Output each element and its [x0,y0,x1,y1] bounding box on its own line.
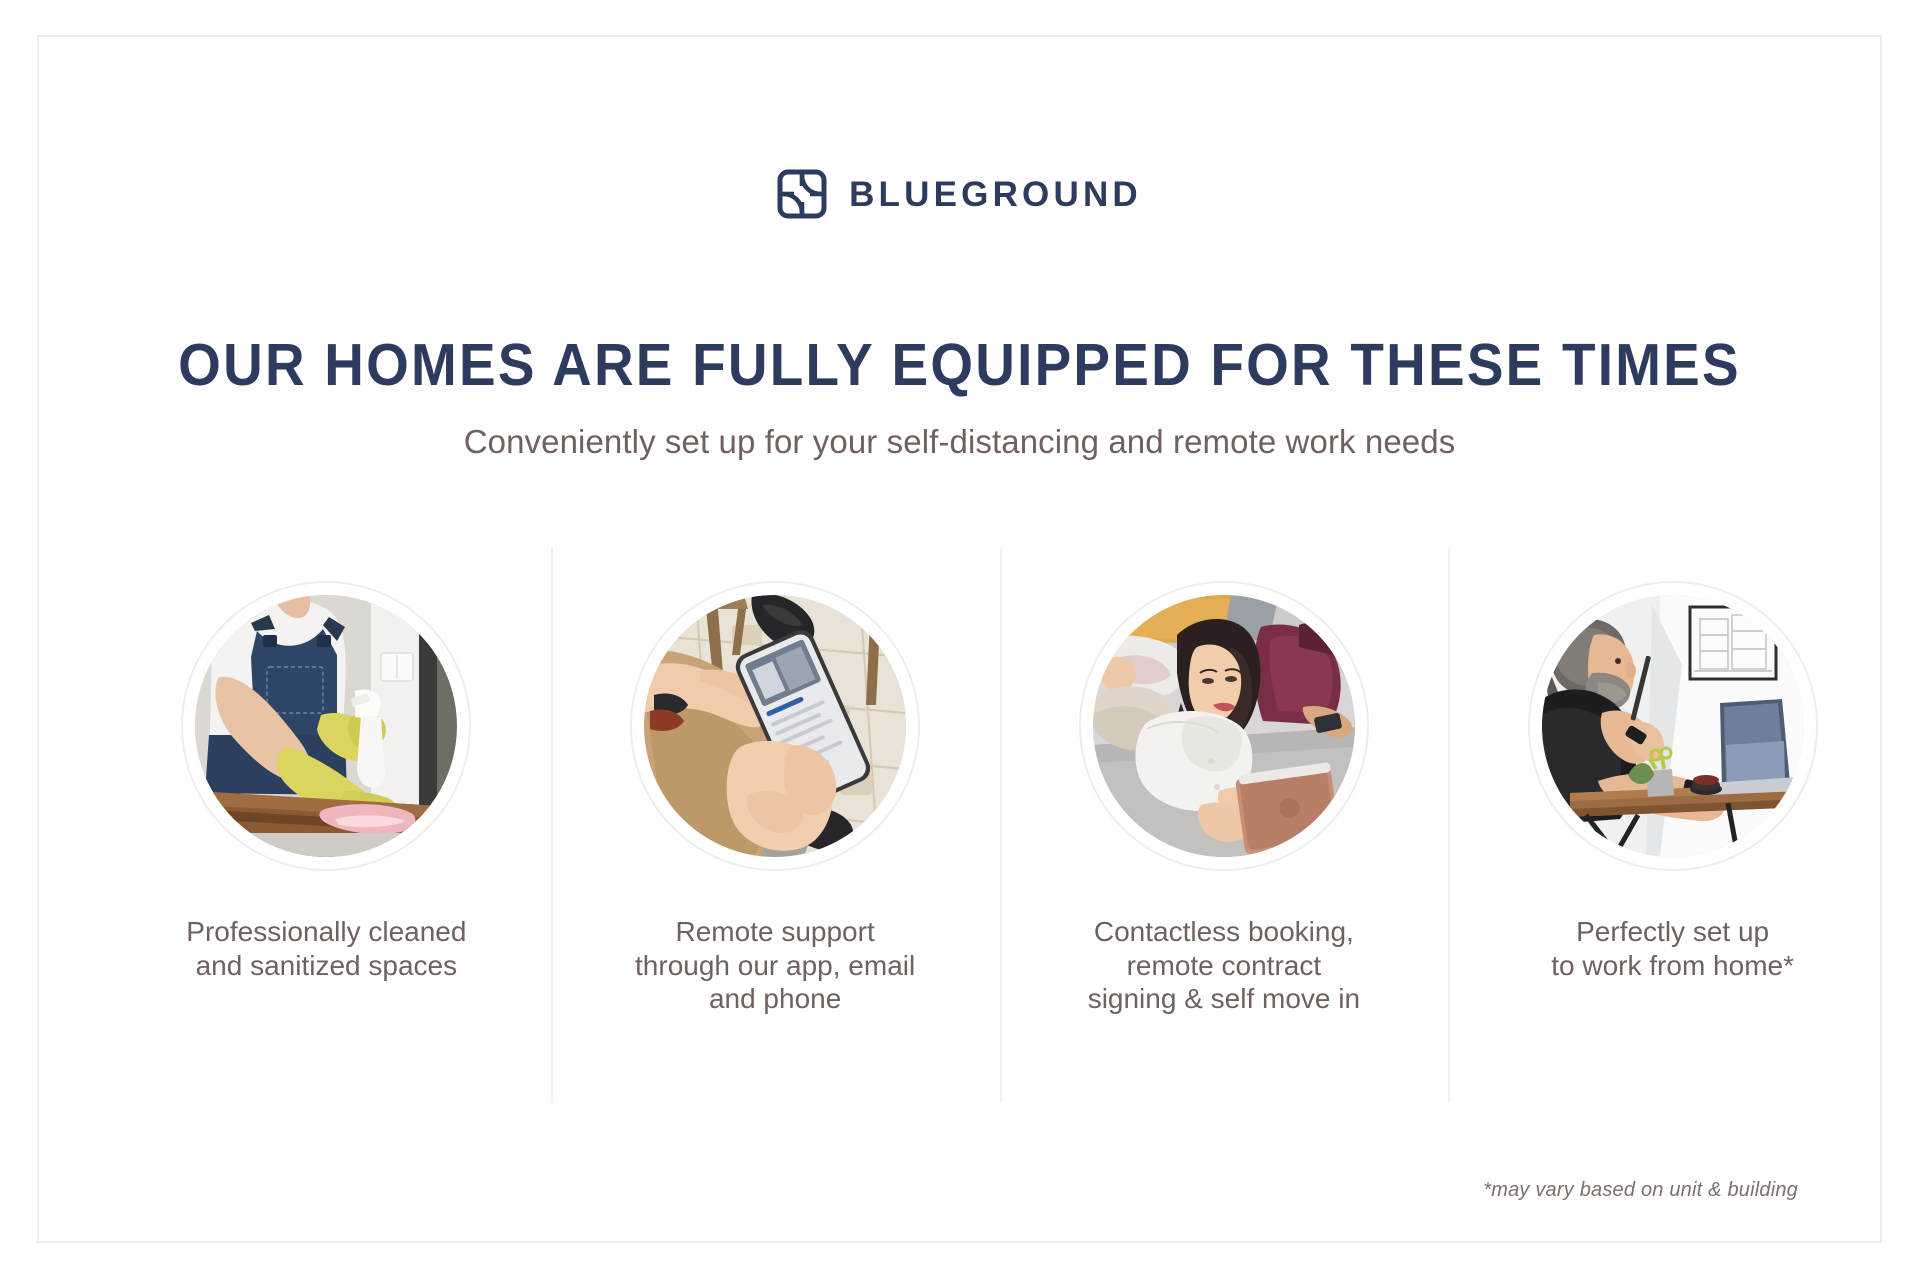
feature-caption: Perfectly set upto work from home* [1551,915,1794,982]
photo-tablet-bed [1093,595,1355,857]
blueground-logo-icon [777,169,827,219]
feature-item-work-from-home: Perfectly set upto work from home* [1448,547,1897,1103]
footnote: *may vary based on unit & building [1483,1179,1798,1202]
photo-phone-app [644,595,906,857]
brand-lockup: BLUEGROUND [39,169,1880,219]
feature-caption: Remote supportthrough our app, emailand … [635,915,915,1016]
feature-item-cleaning: Professionally cleanedand sanitized spac… [102,547,551,1103]
card-frame: BLUEGROUND OUR HOMES ARE FULLY EQUIPPED … [37,35,1882,1243]
feature-item-contactless-booking: Contactless booking,remote contractsigni… [1000,547,1449,1103]
photo-cleaning [195,595,457,857]
photo-ring [630,581,920,871]
photo-ring [1528,581,1818,871]
photo-man-laptop-desk [1542,595,1804,857]
photo-ring [181,581,471,871]
feature-caption: Contactless booking,remote contractsigni… [1088,915,1360,1016]
brand-wordmark: BLUEGROUND [849,177,1142,212]
poster-canvas: BLUEGROUND OUR HOMES ARE FULLY EQUIPPED … [0,0,1920,1280]
page-subtitle: Conveniently set up for your self-distan… [39,422,1880,462]
feature-caption: Professionally cleanedand sanitized spac… [186,915,466,982]
photo-ring [1079,581,1369,871]
feature-item-remote-support: Remote supportthrough our app, emailand … [551,547,1000,1103]
feature-list: Professionally cleanedand sanitized spac… [102,547,1897,1103]
page-title: OUR HOMES ARE FULLY EQUIPPED FOR THESE T… [103,335,1815,397]
